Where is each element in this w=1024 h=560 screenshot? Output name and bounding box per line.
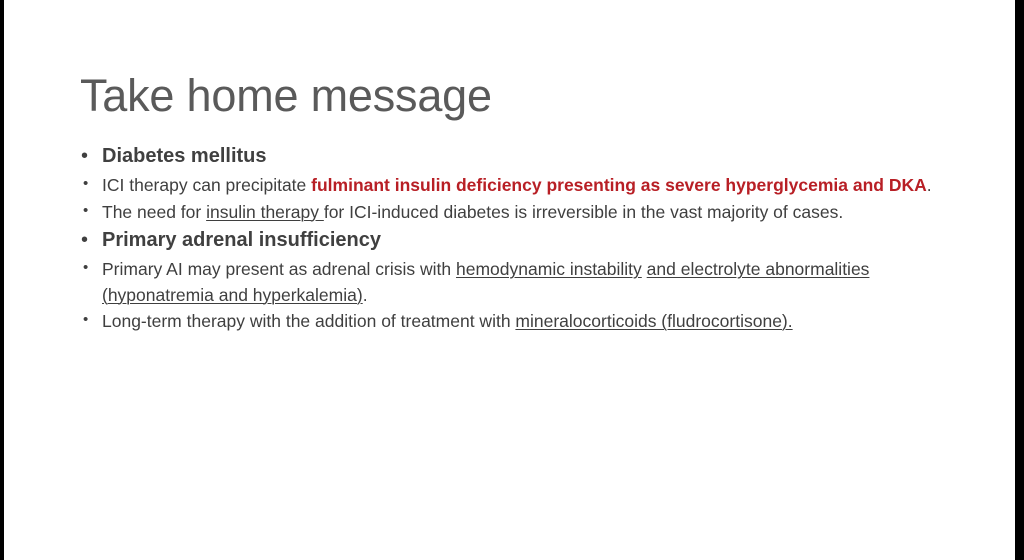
bullet-icon: • xyxy=(81,142,88,171)
item-text-underlined: insulin therapy xyxy=(206,202,324,222)
slide-right-edge-band xyxy=(1015,0,1024,560)
bullet-list-level1: • Diabetes mellitus • ICI therapy can pr… xyxy=(74,142,955,335)
bullet-list-level2-diabetes: • ICI therapy can precipitate fulminant … xyxy=(74,173,955,225)
list-item-long-term-mineralocorticoids: • Long-term therapy with the addition of… xyxy=(74,309,955,335)
bullet-icon: • xyxy=(83,199,88,223)
list-item-primary-ai-adrenal-crisis: • Primary AI may present as adrenal cris… xyxy=(74,257,955,308)
item-text-underlined: mineralocorticoids (fludrocortisone). xyxy=(515,311,792,331)
item-text-plain-lead: Primary AI may present as adrenal crisis… xyxy=(102,259,456,279)
bullet-icon: • xyxy=(83,172,88,196)
item-text-plain-lead: The need for xyxy=(102,202,206,222)
list-item-insulin-therapy-irreversible: • The need for insulin therapy for ICI-i… xyxy=(74,200,955,226)
item-text: Primary AI may present as adrenal crisis… xyxy=(102,259,869,305)
list-item-heading-primary-adrenal-insufficiency: • Primary adrenal insufficiency xyxy=(74,226,955,255)
heading-label: Diabetes mellitus xyxy=(102,145,267,167)
item-text-plain-tail: for ICI-induced diabetes is irreversible… xyxy=(324,202,843,222)
presentation-slide: Take home message • Diabetes mellitus • … xyxy=(0,0,1024,560)
heading-label: Primary adrenal insufficiency xyxy=(102,229,381,251)
slide-content-area: Take home message • Diabetes mellitus • … xyxy=(4,0,1015,560)
sublist-container-diabetes: • ICI therapy can precipitate fulminant … xyxy=(74,173,955,225)
list-item-heading-diabetes-mellitus: • Diabetes mellitus xyxy=(74,142,955,171)
page-title: Take home message xyxy=(80,72,492,121)
bullet-icon: • xyxy=(81,226,88,255)
sublist-container-adrenal: • Primary AI may present as adrenal cris… xyxy=(74,257,955,335)
bullet-icon: • xyxy=(83,308,88,332)
item-text-highlight: fulminant insulin deficiency presenting … xyxy=(311,175,927,195)
item-text: ICI therapy can precipitate fulminant in… xyxy=(102,175,932,195)
list-item-ici-therapy-dka: • ICI therapy can precipitate fulminant … xyxy=(74,173,955,199)
item-text-plain-lead: ICI therapy can precipitate xyxy=(102,175,311,195)
item-text-plain-lead: Long-term therapy with the addition of t… xyxy=(102,311,515,331)
bullet-list-level2-adrenal: • Primary AI may present as adrenal cris… xyxy=(74,257,955,335)
item-text: Long-term therapy with the addition of t… xyxy=(102,311,793,331)
item-text-underlined-first: hemodynamic instability xyxy=(456,259,642,279)
bullet-icon: • xyxy=(83,256,88,280)
item-text: The need for insulin therapy for ICI-ind… xyxy=(102,202,843,222)
slide-body: • Diabetes mellitus • ICI therapy can pr… xyxy=(74,142,955,336)
item-text-plain-tail: . xyxy=(363,285,368,305)
item-text-plain-tail: . xyxy=(927,175,932,195)
